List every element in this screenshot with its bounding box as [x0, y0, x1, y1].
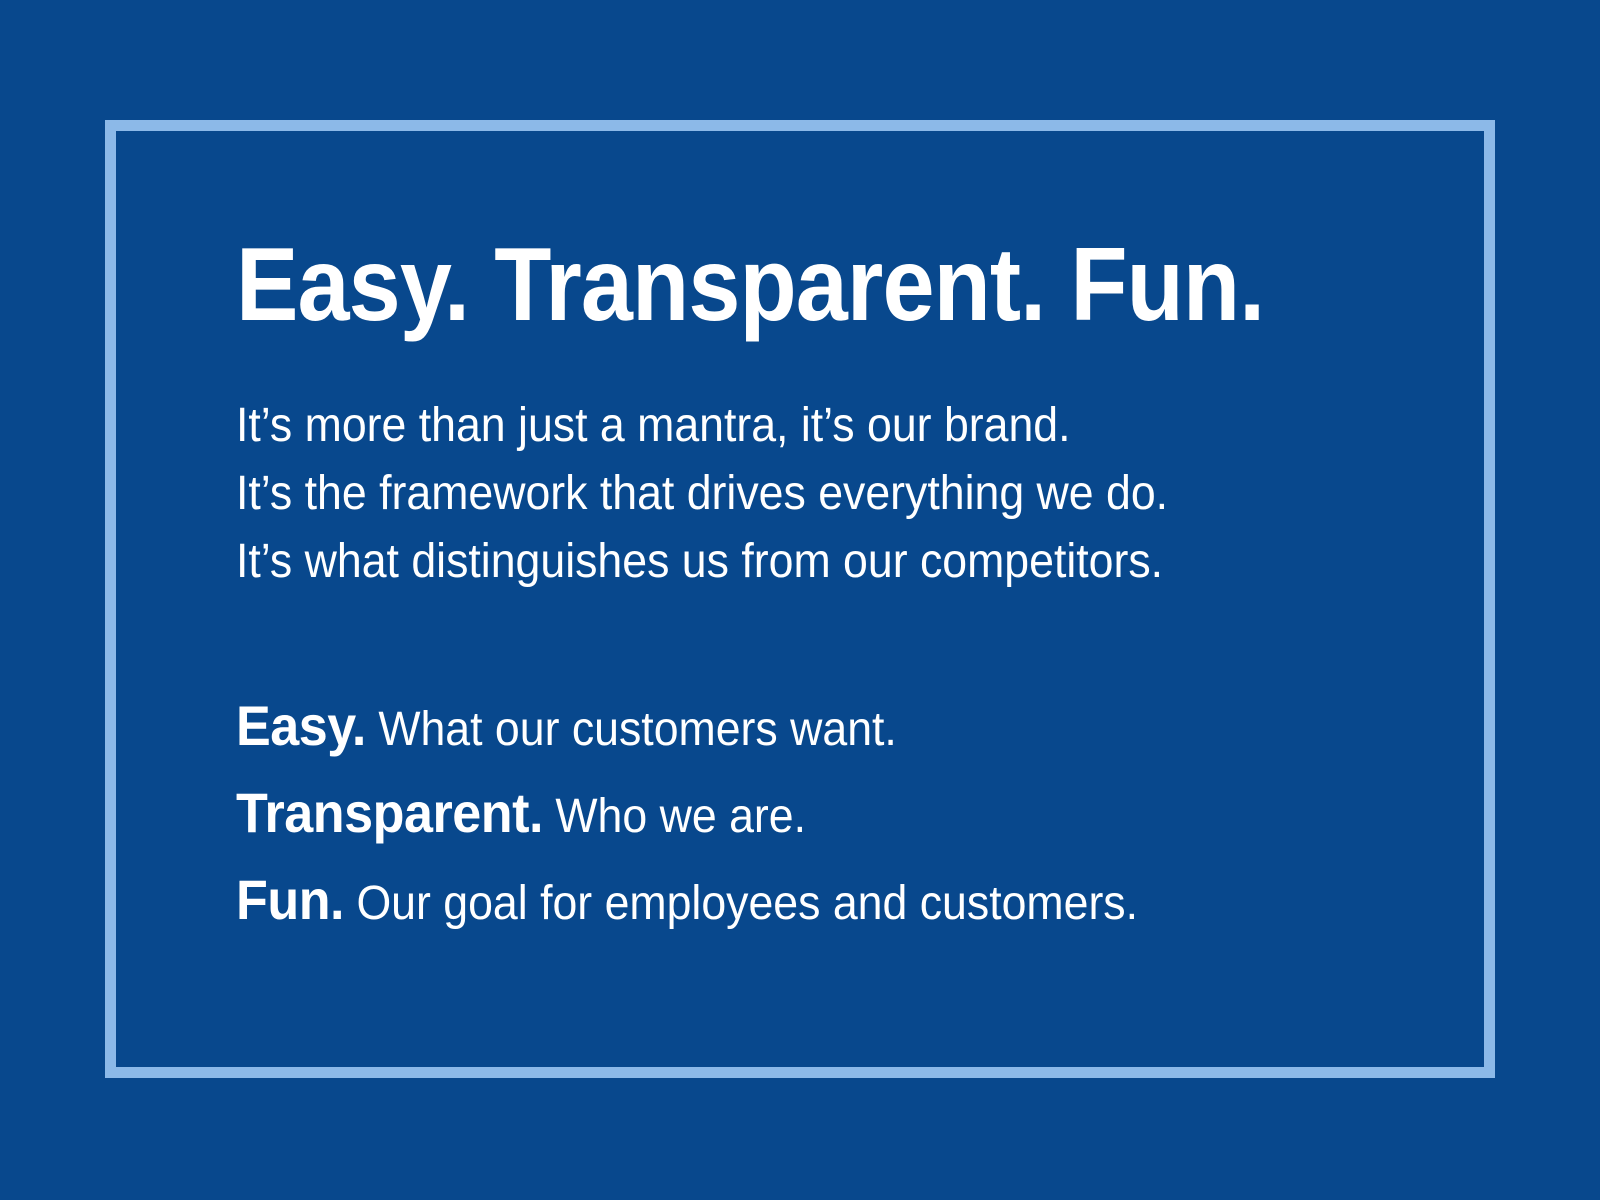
intro-line-1: It’s more than just a mantra, it’s our b…	[236, 392, 1352, 460]
definition-list: Easy. What our customers want. Transpare…	[236, 684, 1436, 945]
definition-description-transparent: Who we are.	[555, 790, 806, 843]
brand-mantra-slide: Easy. Transparent. Fun. It’s more than j…	[0, 0, 1600, 1200]
definition-description-fun: Our goal for employees and customers.	[356, 877, 1138, 930]
definition-term-easy: Easy.	[236, 694, 366, 757]
intro-paragraph: It’s more than just a mantra, it’s our b…	[236, 392, 1436, 596]
slide-content: Easy. Transparent. Fun. It’s more than j…	[236, 232, 1436, 945]
definition-item-transparent: Transparent. Who we are.	[236, 771, 1352, 858]
definition-description-easy: What our customers want.	[378, 703, 897, 756]
intro-line-2: It’s the framework that drives everythin…	[236, 460, 1352, 528]
definition-item-easy: Easy. What our customers want.	[236, 684, 1352, 771]
page-title: Easy. Transparent. Fun.	[236, 232, 1316, 338]
definition-term-fun: Fun.	[236, 868, 344, 931]
definition-term-transparent: Transparent.	[236, 781, 543, 844]
intro-line-3: It’s what distinguishes us from our comp…	[236, 528, 1352, 596]
definition-item-fun: Fun. Our goal for employees and customer…	[236, 858, 1352, 945]
